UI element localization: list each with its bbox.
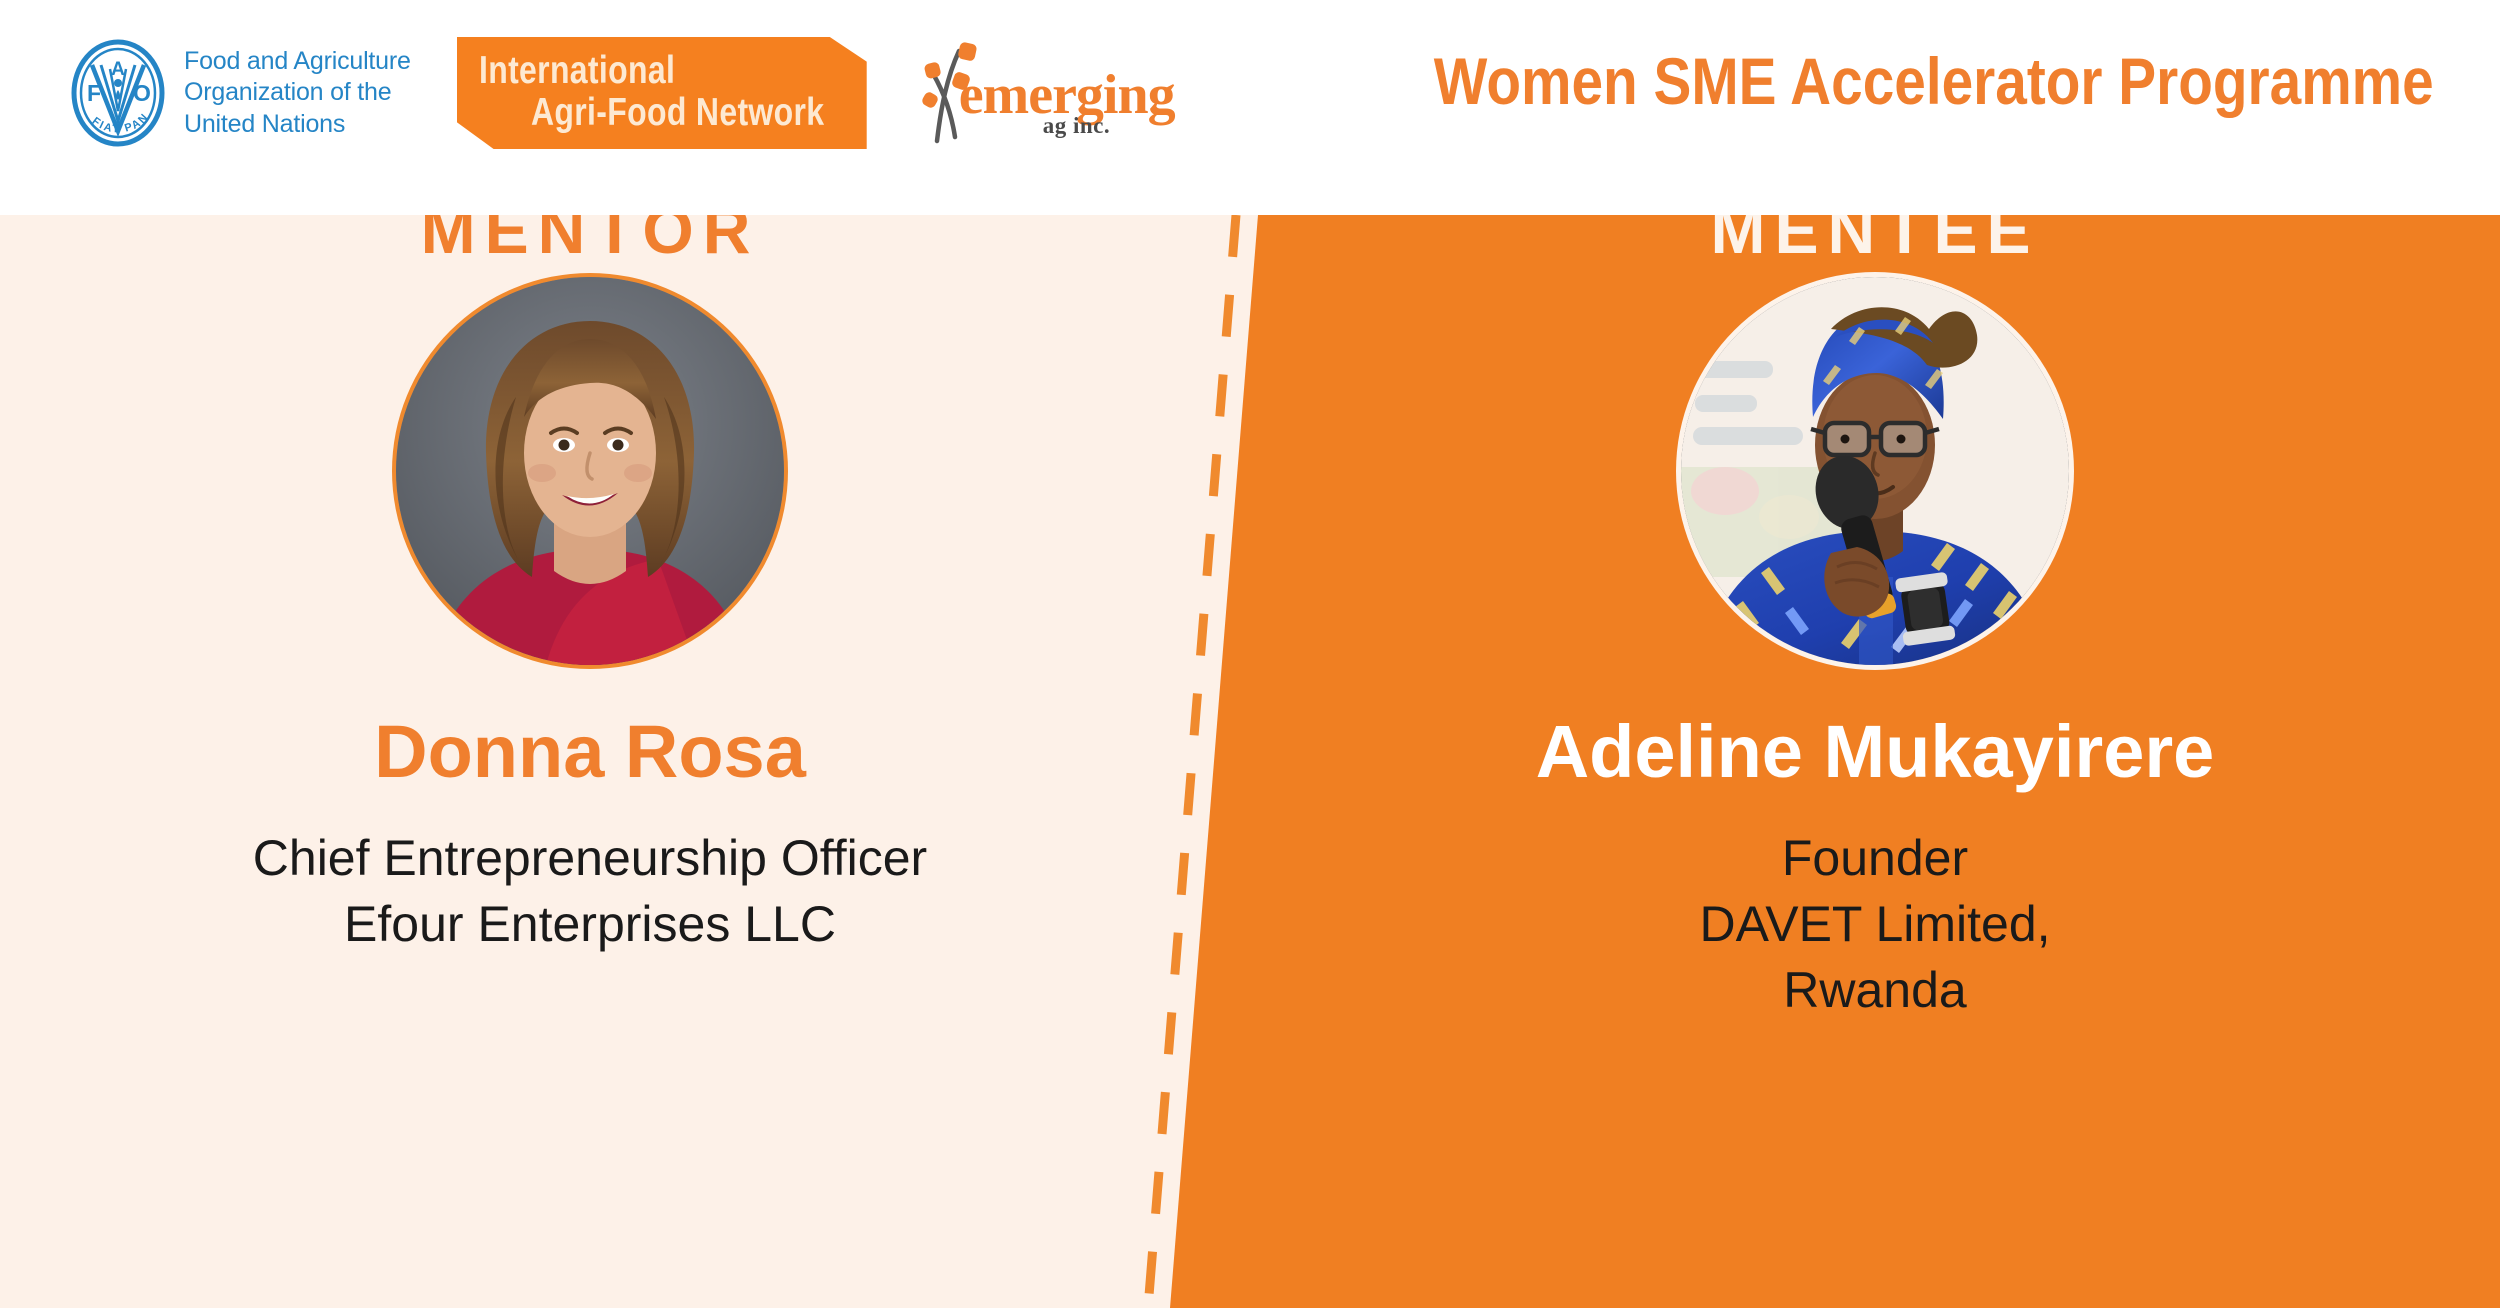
emerging-ag-subtext: ag inc. bbox=[1043, 113, 1110, 139]
svg-text:F: F bbox=[87, 80, 101, 106]
svg-text:A: A bbox=[111, 59, 125, 80]
iafn-logo-line2: Agri-Food Network bbox=[531, 92, 807, 134]
mentee-panel: MENTEE bbox=[1270, 215, 2480, 1308]
mentee-role: Founder DAVET Limited, Rwanda bbox=[1270, 825, 2480, 1023]
mentor-role: Chief Entrepreneurship Officer Efour Ent… bbox=[0, 825, 1180, 957]
fao-logo-label: Food and Agriculture Organization of the… bbox=[184, 46, 411, 141]
emerging-ag-inc-logo[interactable]: emerging ag inc. bbox=[911, 37, 1151, 149]
content-stage: MENTOR bbox=[0, 215, 2500, 1308]
mentee-kicker: MENTEE bbox=[1270, 215, 2480, 263]
iafn-logo-line1: International bbox=[479, 50, 797, 92]
mentor-panel: MENTOR bbox=[0, 215, 1180, 1308]
international-agri-food-network-logo[interactable]: International Agri-Food Network bbox=[457, 37, 867, 149]
fao-logo[interactable]: A F O FIAT PANIS Food and Agriculture Or… bbox=[70, 39, 411, 147]
page-header: A F O FIAT PANIS Food and Agriculture Or… bbox=[0, 0, 2500, 215]
mentee-name: Adeline Mukayirere bbox=[1270, 715, 2480, 789]
svg-text:O: O bbox=[133, 80, 151, 106]
programme-title: Women SME Accelerator Programme bbox=[1434, 48, 2434, 114]
partner-logo-row: A F O FIAT PANIS Food and Agriculture Or… bbox=[70, 28, 1151, 158]
mentor-avatar-photo bbox=[396, 277, 784, 665]
mentor-kicker: MENTOR bbox=[0, 215, 1180, 263]
mentee-avatar-photo bbox=[1681, 277, 2069, 665]
mentor-name: Donna Rosa bbox=[0, 715, 1180, 789]
fao-logo-icon: A F O FIAT PANIS bbox=[70, 39, 166, 147]
